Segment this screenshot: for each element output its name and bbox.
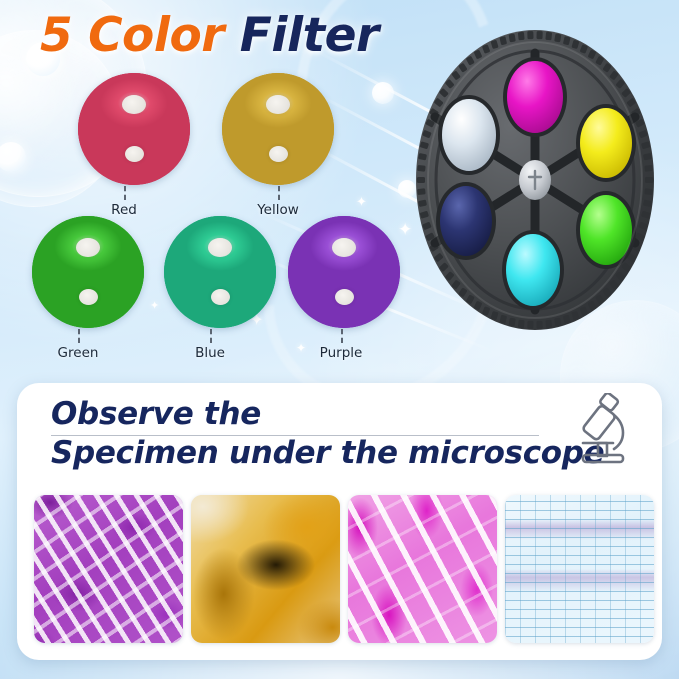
- filter-slot-magenta: [503, 57, 567, 137]
- nucleus: [122, 95, 146, 114]
- specimen-circle-green: [32, 216, 144, 328]
- photo-blue-plant: [505, 495, 654, 643]
- filter-wheel[interactable]: [413, 25, 658, 335]
- photo-purple-tissue: [34, 495, 183, 643]
- decor-bubble-dot-3: [372, 82, 394, 104]
- specimen-circle-blue: [164, 216, 276, 328]
- title-part-color: 5 Color: [40, 8, 240, 63]
- decor-sparkle-1: ✦: [356, 196, 367, 209]
- filter-slot-cyan: [502, 230, 564, 310]
- nucleus: [211, 289, 230, 305]
- filter-slot-green: [576, 191, 636, 269]
- filter-slot-navy: [436, 182, 496, 260]
- tissue-texture: [222, 73, 334, 185]
- filter-slot-yellow: [576, 104, 636, 182]
- tissue-texture: [288, 216, 400, 328]
- specimen-label-blue: Blue: [195, 345, 225, 361]
- decor-sparkle-5: ✦: [150, 300, 159, 311]
- leader-line-blue: [210, 329, 212, 343]
- specimen-label-green: Green: [58, 345, 99, 361]
- specimen-circle-purple: [288, 216, 400, 328]
- specimen-circle-red: [78, 73, 190, 185]
- nucleus: [335, 289, 354, 305]
- filter-slot-clear: [438, 95, 500, 175]
- nucleus: [332, 238, 356, 257]
- nucleus: [125, 146, 144, 162]
- nucleus: [76, 238, 100, 257]
- infographic-canvas: ✦ ✦ ✦ ✦ ✦ ✦ 5 Color Filter Red Yellow Gr…: [0, 0, 679, 679]
- decor-sparkle-2: ✦: [398, 222, 412, 239]
- photo-texture: [34, 495, 183, 643]
- specimen-photo-strip: [34, 495, 654, 643]
- headline-line-1: Observe the: [37, 395, 537, 433]
- leader-line-purple: [341, 329, 343, 343]
- nucleus: [266, 95, 290, 114]
- photo-texture: [505, 495, 654, 643]
- card-headline: Observe the Specimen under the microscop…: [37, 395, 537, 473]
- page-title: 5 Color Filter: [40, 8, 379, 63]
- leader-line-red: [124, 186, 126, 200]
- nucleus: [208, 238, 232, 257]
- tissue-texture: [32, 216, 144, 328]
- headline-line-2: Specimen under the microscope: [37, 433, 537, 473]
- tissue-texture: [164, 216, 276, 328]
- specimen-circle-yellow: [222, 73, 334, 185]
- nucleus: [79, 289, 98, 305]
- decor-sparkle-4: ✦: [296, 342, 306, 354]
- wheel-hub: [519, 160, 551, 200]
- photo-texture: [348, 495, 497, 643]
- observe-card: Observe the Specimen under the microscop…: [17, 383, 662, 660]
- decor-bubble-dot-2: [0, 142, 26, 172]
- photo-texture: [191, 495, 340, 643]
- specimen-label-purple: Purple: [320, 345, 363, 361]
- photo-pink-cells: [348, 495, 497, 643]
- nucleus: [269, 146, 288, 162]
- microscope-icon: [566, 393, 638, 467]
- headline-divider: [51, 435, 539, 436]
- title-part-filter: Filter: [240, 8, 379, 63]
- tissue-texture: [78, 73, 190, 185]
- leader-line-yellow: [278, 186, 280, 200]
- leader-line-green: [78, 329, 80, 343]
- photo-yellow-insect: [191, 495, 340, 643]
